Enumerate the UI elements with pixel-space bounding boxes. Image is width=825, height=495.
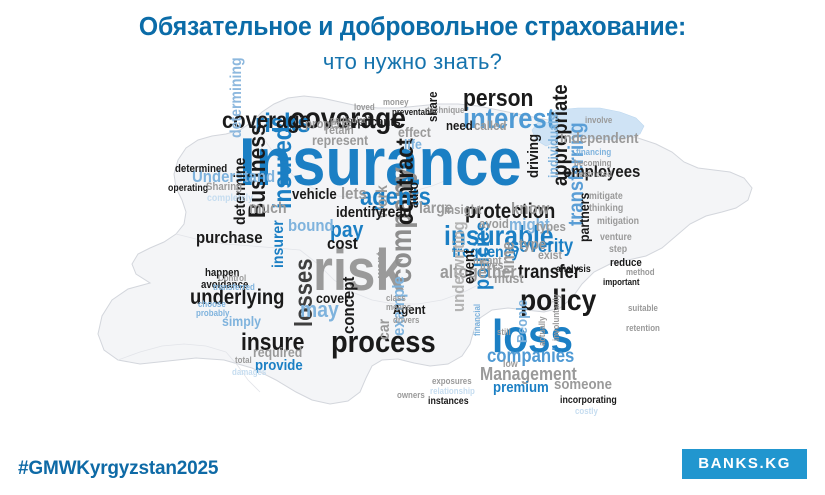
cloud-word: low <box>503 360 518 369</box>
cloud-word: exposures <box>432 377 472 385</box>
cloud-word: analysis <box>556 265 591 274</box>
cloud-word: auto <box>407 182 420 208</box>
cloud-word: retention <box>626 324 660 332</box>
cloud-word: restricted <box>576 170 612 178</box>
banks-kg-logo[interactable]: BANKS.KG <box>682 449 807 479</box>
cloud-word: person <box>463 88 533 110</box>
cloud-word: incorporating <box>560 396 617 405</box>
cloud-word: owners <box>397 391 425 399</box>
insurance-word-cloud: Insuranceriskcoveragelosspolicycompanypr… <box>0 78 825 418</box>
cloud-word: called <box>474 120 506 132</box>
cloud-word: venture <box>600 233 632 242</box>
cloud-word: need <box>446 120 473 132</box>
cloud-word: purchase <box>196 230 263 246</box>
cloud-word: important <box>603 278 640 286</box>
cloud-word: insight <box>444 204 481 216</box>
cloud-word: companies <box>487 348 574 365</box>
cloud-word: step <box>609 245 627 254</box>
cloud-word: insurer <box>272 220 287 268</box>
slide-canvas: Обязательное и добровольное страхование:… <box>0 0 825 495</box>
cloud-word: completely <box>207 194 253 203</box>
cloud-word: thinking <box>589 204 623 213</box>
cloud-word: must <box>494 272 523 285</box>
cloud-word: financial <box>473 304 481 336</box>
cloud-word: meant <box>473 256 502 266</box>
cloud-word: types <box>536 221 566 233</box>
cloud-word: premium <box>493 381 549 395</box>
event-hashtag: #GMWKyrgyzstan2025 <box>18 458 218 480</box>
cloud-word: lets <box>341 186 367 202</box>
title-block: Обязательное и добровольное страхование:… <box>0 12 825 75</box>
cloud-word: damages <box>232 368 266 376</box>
page-subtitle: что нужно знать? <box>0 49 825 75</box>
cloud-word: drivers <box>393 316 419 324</box>
page-title: Обязательное и добровольное страхование: <box>12 12 812 42</box>
cloud-word: individuals <box>547 114 560 178</box>
cloud-word: means <box>386 303 411 311</box>
cloud-word: want <box>375 252 387 278</box>
cloud-word: probably <box>196 309 229 317</box>
cloud-word: People <box>516 300 530 343</box>
cloud-word: costly <box>575 407 598 415</box>
cloud-word: determined <box>175 164 227 174</box>
cloud-word: total <box>235 356 252 364</box>
cloud-word: still <box>497 328 511 336</box>
cloud-word: life <box>404 138 422 151</box>
cloud-word: someone <box>554 378 612 392</box>
cloud-word: required <box>253 346 302 359</box>
cloud-word: exist <box>538 250 562 261</box>
cloud-word: money <box>383 98 409 106</box>
cloud-word: much <box>249 202 287 217</box>
cloud-word: mitigation <box>597 217 639 226</box>
cloud-word: determining <box>230 57 245 138</box>
cloud-word: read <box>382 206 412 221</box>
cloud-word: retain <box>325 125 354 136</box>
cloud-word: suitable <box>628 304 658 312</box>
cloud-word: cover <box>316 292 349 305</box>
cloud-word: relationship <box>430 387 475 395</box>
cloud-word: bound <box>288 218 334 234</box>
cloud-word: instances <box>428 397 469 406</box>
cloud-word: method <box>626 268 655 276</box>
cloud-word: car <box>378 319 393 340</box>
cloud-word: avoid <box>479 218 509 230</box>
cloud-word: vehicle <box>292 188 337 202</box>
cloud-word: involuntarily <box>552 294 560 341</box>
cloud-word: preventable <box>392 108 436 116</box>
cloud-word: loved <box>354 103 375 111</box>
cloud-word: involve <box>585 116 612 124</box>
cloud-word: actually <box>538 316 546 346</box>
cloud-word: particular <box>330 116 366 124</box>
cloud-word: financing <box>576 148 611 156</box>
cloud-word: operating <box>168 184 208 193</box>
cloud-word: becoming <box>574 159 611 167</box>
cloud-word: Control <box>218 274 246 282</box>
cloud-word: identify <box>336 206 383 220</box>
cloud-word: Independent <box>560 132 638 146</box>
cloud-word: mitigate <box>589 192 623 201</box>
cloud-word: Sharing <box>206 182 242 192</box>
cloud-word: transferred <box>213 283 255 291</box>
cloud-word: driving <box>527 134 541 178</box>
cloud-word: cost <box>327 236 358 252</box>
